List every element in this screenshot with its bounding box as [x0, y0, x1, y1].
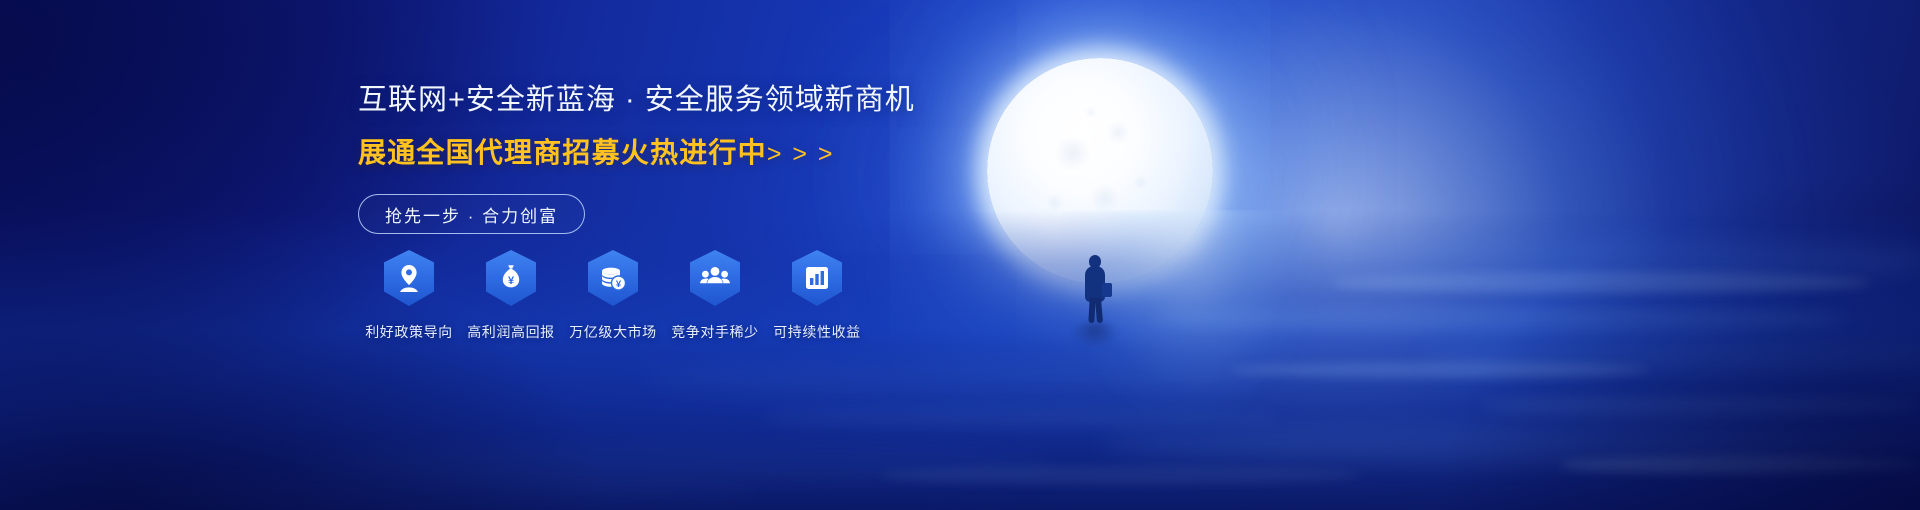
coin-stack-icon: ¥	[588, 250, 638, 306]
feature-label: 万亿级大市场	[569, 322, 657, 342]
banner-content: 互联网+安全新蓝海 · 安全服务领域新商机 展通全国代理商招募火热进行中> > …	[358, 86, 1058, 234]
promo-banner: 互联网+安全新蓝海 · 安全服务领域新商机 展通全国代理商招募火热进行中> > …	[0, 0, 1920, 510]
feature-label: 可持续性收益	[773, 322, 861, 342]
svg-text:¥: ¥	[508, 275, 515, 287]
feature-item[interactable]: 竞争对手稀少	[664, 250, 766, 342]
bar-chart-icon	[792, 250, 842, 306]
figure-reflection	[1072, 322, 1118, 348]
person-silhouette-icon	[1075, 255, 1115, 323]
banner-headline: 互联网+安全新蓝海 · 安全服务领域新商机	[358, 86, 1058, 115]
ocean-artwork	[0, 210, 1920, 510]
location-pin-icon	[384, 250, 434, 306]
feature-label: 竞争对手稀少	[671, 322, 759, 342]
people-group-icon	[690, 250, 740, 306]
feature-item[interactable]: ¥ 高利润高回报	[460, 250, 562, 342]
svg-text:¥: ¥	[616, 279, 622, 290]
feature-list: 利好政策导向 ¥ 高利润高回报	[358, 250, 868, 342]
feature-label: 高利润高回报	[467, 322, 555, 342]
banner-subline-text: 展通全国代理商招募火热进行中	[358, 137, 767, 168]
chevron-right-arrows-icon: > > >	[767, 140, 835, 168]
feature-item[interactable]: ¥ 万亿级大市场	[562, 250, 664, 342]
banner-subline: 展通全国代理商招募火热进行中> > >	[358, 139, 1058, 167]
money-bag-icon: ¥	[486, 250, 536, 306]
feature-item[interactable]: 利好政策导向	[358, 250, 460, 342]
cta-pill-button[interactable]: 抢先一步 · 合力创富	[358, 194, 585, 234]
feature-label: 利好政策导向	[365, 322, 453, 342]
feature-item[interactable]: 可持续性收益	[766, 250, 868, 342]
